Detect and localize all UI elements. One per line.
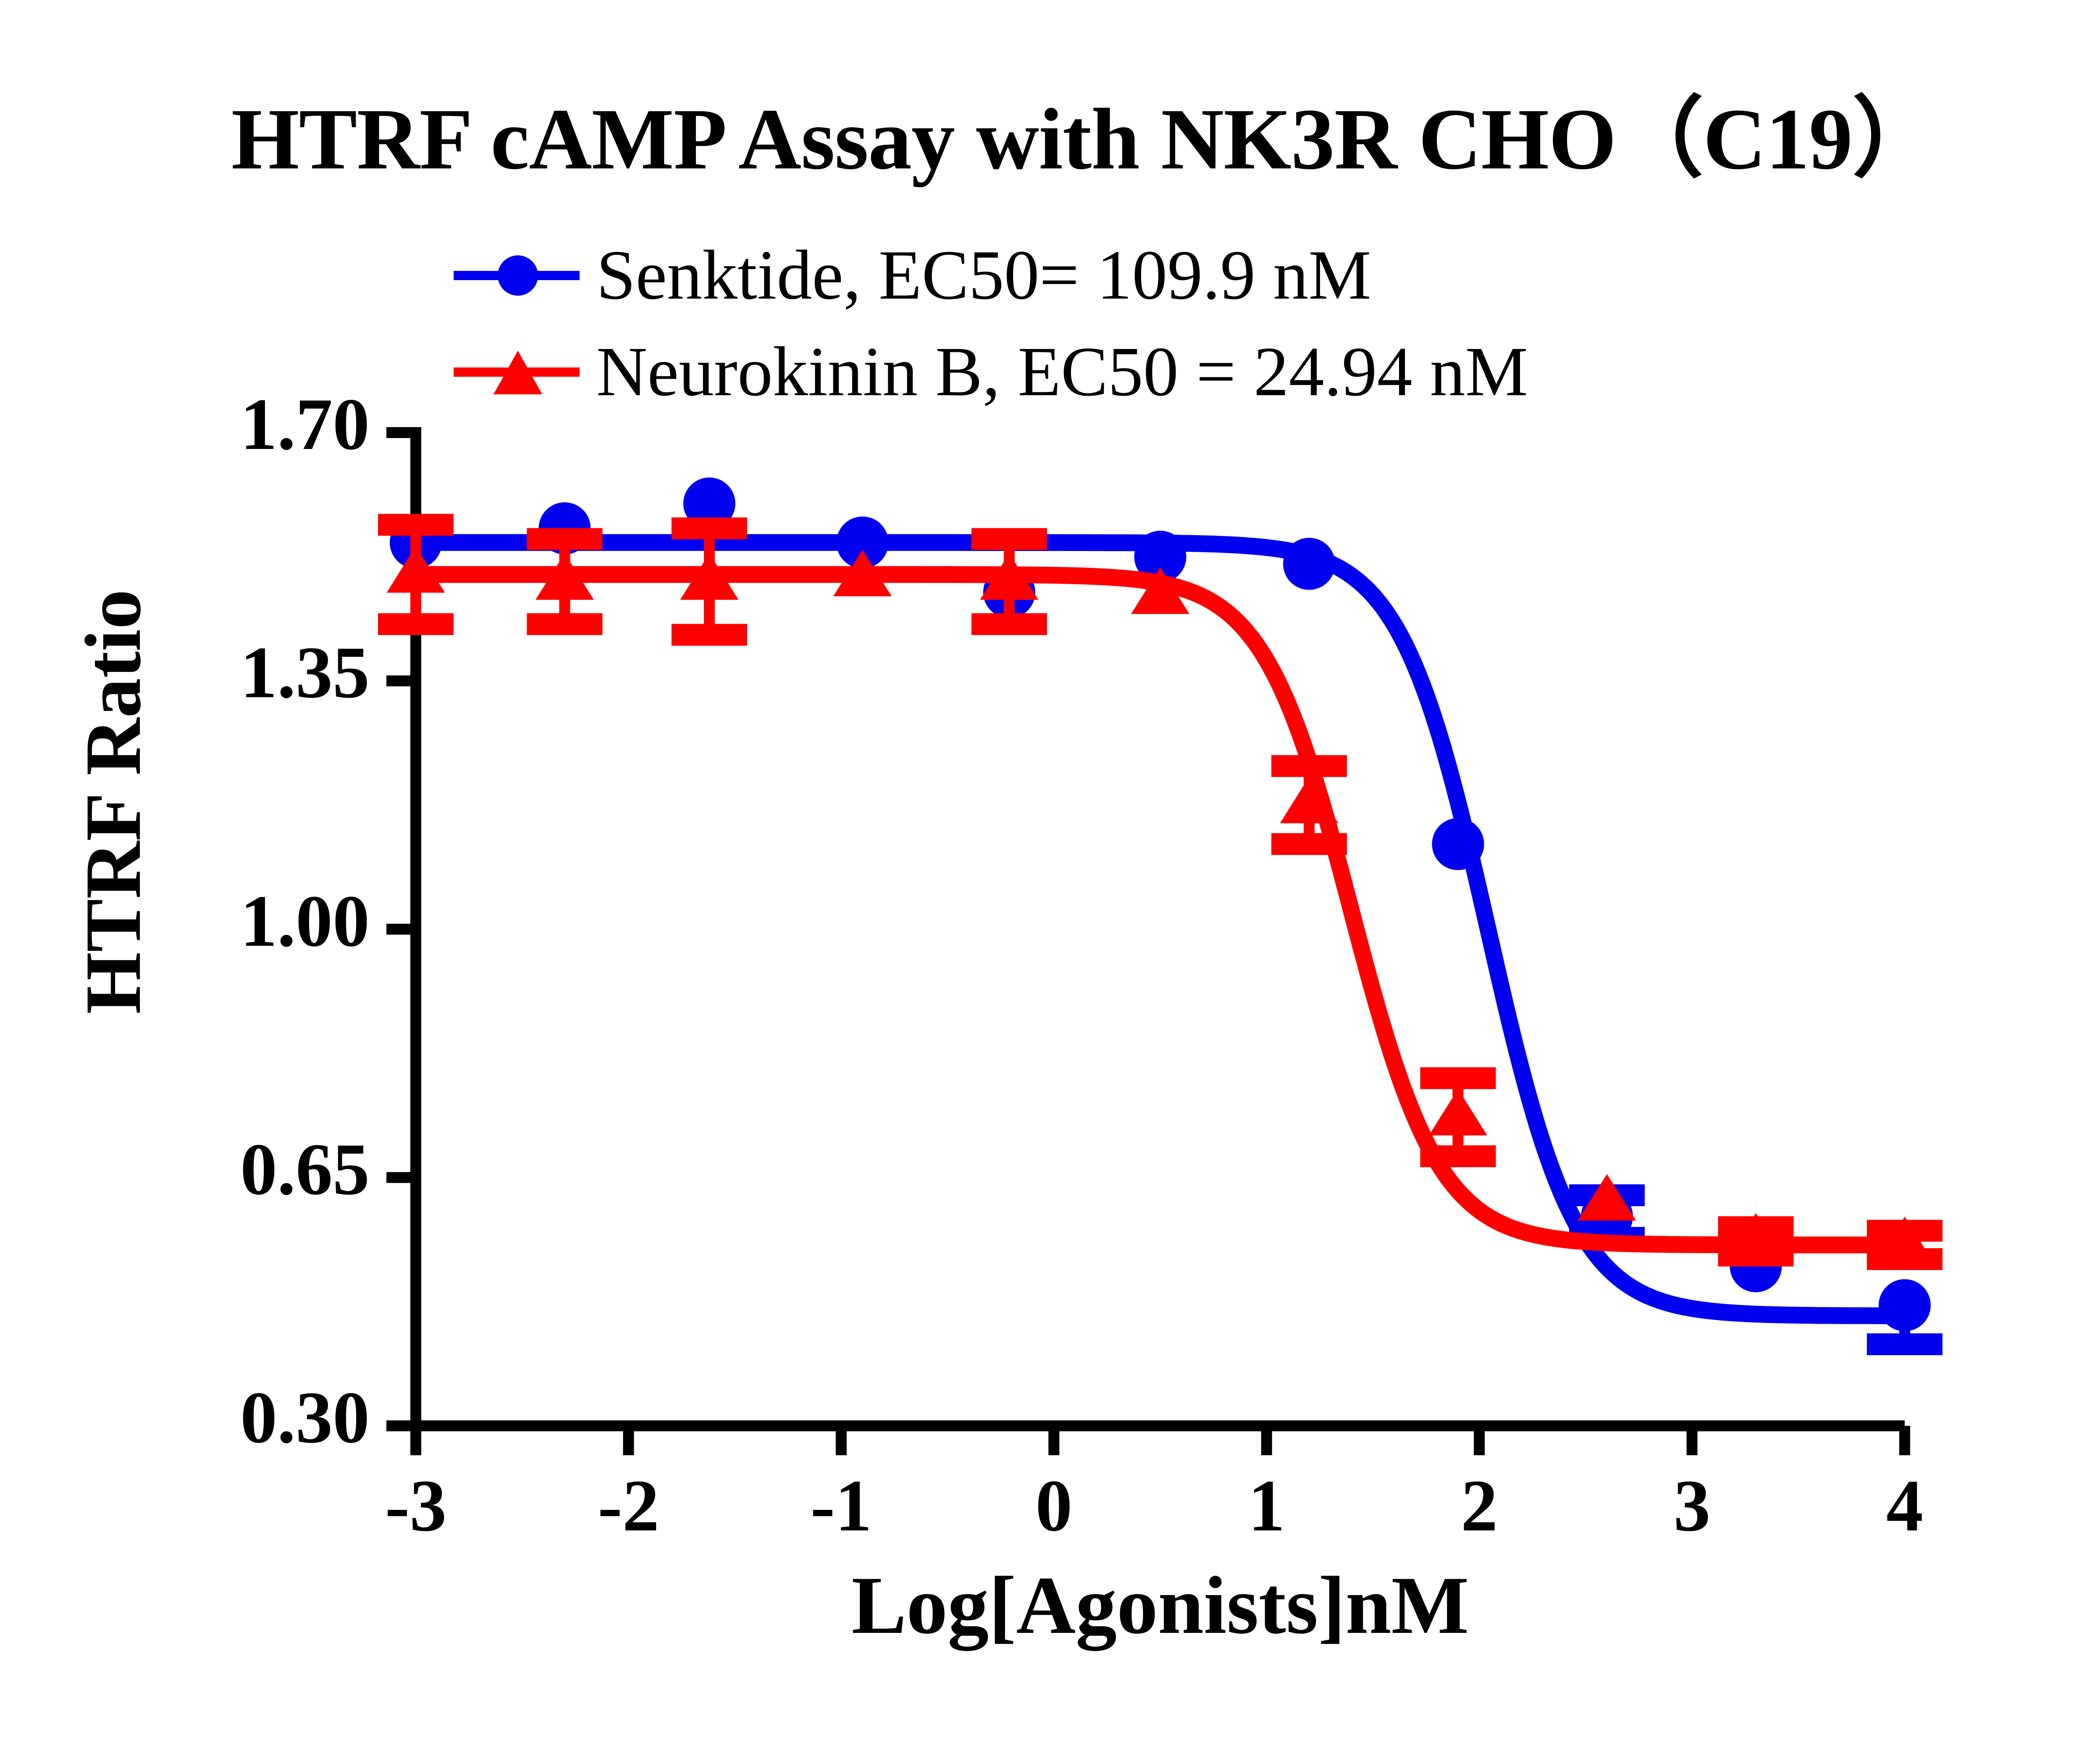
x-tick-label: -1 xyxy=(778,1464,904,1548)
figure-canvas: HTRF cAMP Assay with NK3R CHO（C19） Senkt… xyxy=(0,0,2100,1753)
x-tick-label: -2 xyxy=(565,1464,691,1548)
x-tick-labels: -3-2-101234 xyxy=(0,0,2100,1753)
x-tick-label: 1 xyxy=(1204,1464,1330,1548)
x-axis-title: Log[Agonists]nM xyxy=(416,1558,1905,1653)
x-tick-label: 4 xyxy=(1842,1464,1968,1548)
x-tick-label: 0 xyxy=(991,1464,1117,1548)
x-tick-label: -3 xyxy=(353,1464,479,1548)
x-tick-label: 2 xyxy=(1416,1464,1542,1548)
x-tick-label: 3 xyxy=(1629,1464,1755,1548)
y-axis-title: HTRF Ratio xyxy=(68,508,159,1096)
plot-area: 1.701.351.000.650.30 -3-2-101234 HTRF Ra… xyxy=(0,0,2100,1753)
